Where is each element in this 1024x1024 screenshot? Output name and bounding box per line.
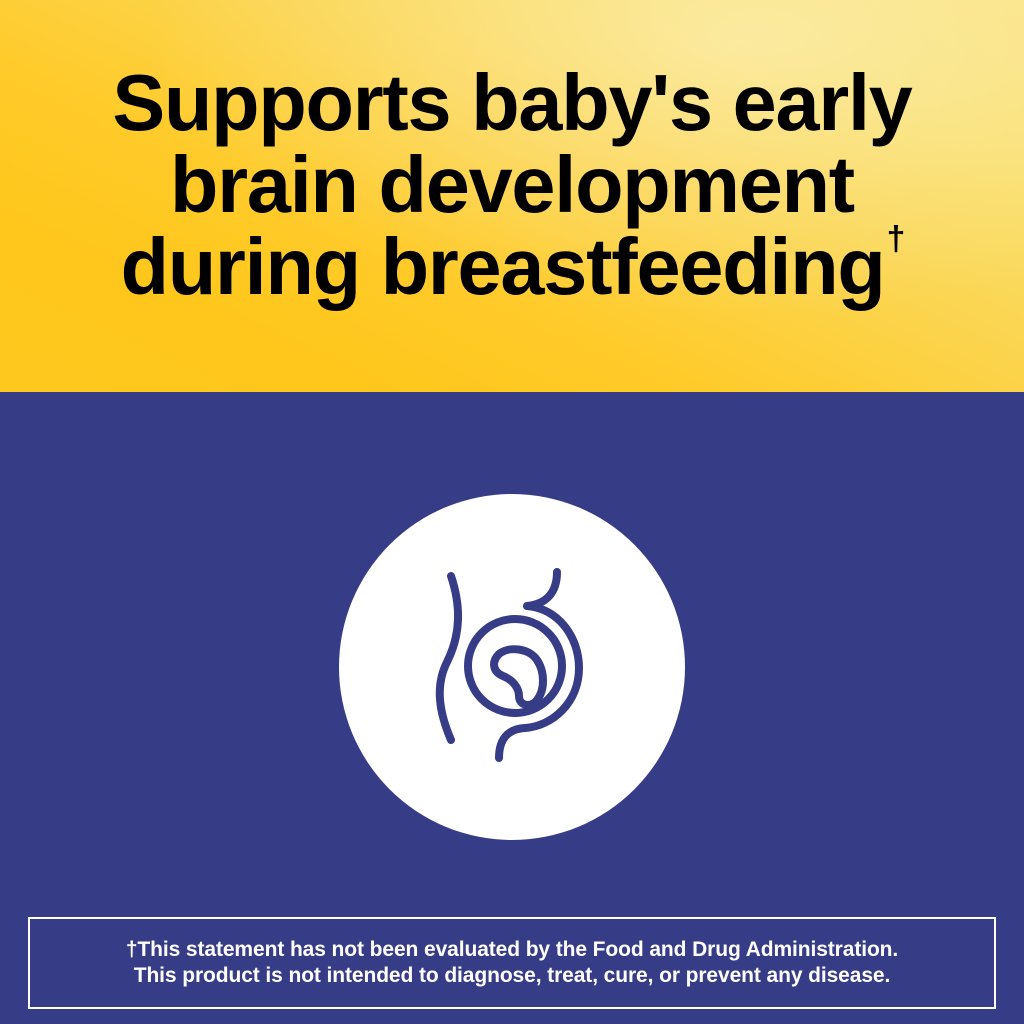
footnote-marker: † [887, 220, 906, 258]
disclaimer-box: †This statement has not been evaluated b… [28, 917, 996, 1009]
page-title: Supports baby's early brain development … [0, 62, 1024, 308]
icon-medallion [339, 494, 685, 840]
disclaimer-line-1: †This statement has not been evaluated b… [126, 937, 898, 963]
product-benefit-card: Supports baby's early brain development … [0, 0, 1024, 1024]
headline-line-2: brain development [27, 144, 997, 226]
disclaimer-line-2: This product is not intended to diagnose… [126, 963, 898, 989]
disclaimer-text: †This statement has not been evaluated b… [112, 937, 912, 989]
headline-band: Supports baby's early brain development … [0, 0, 1024, 392]
pregnant-belly-icon [407, 562, 617, 772]
headline-line-3: during breastfeeding† [27, 226, 997, 308]
headline-line-3-text: during breastfeeding [121, 222, 885, 311]
headline-line-1: Supports baby's early [27, 62, 997, 144]
